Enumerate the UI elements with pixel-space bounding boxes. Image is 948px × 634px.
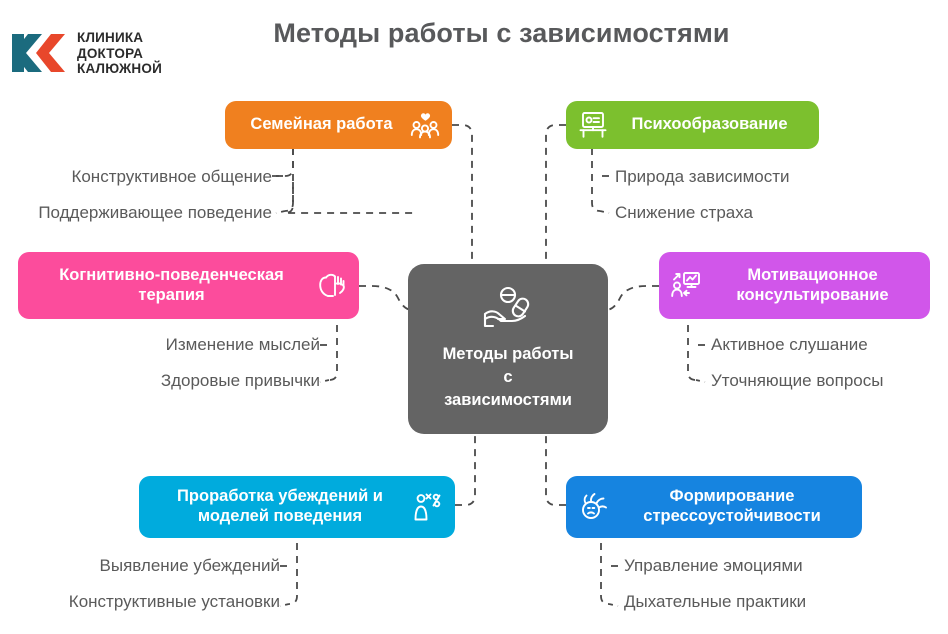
person-percent-icon bbox=[413, 492, 443, 522]
leaf-beliefs-1: Конструктивные установки bbox=[40, 592, 280, 612]
leaf-family-1: Поддерживающее поведение bbox=[20, 203, 272, 223]
branch-node-cbt[interactable]: Когнитивно-поведенческая терапия bbox=[18, 252, 359, 319]
branch-node-beliefs[interactable]: Проработка убеждений и моделей поведения bbox=[139, 476, 455, 538]
hand-holding-pills-icon bbox=[479, 286, 537, 337]
page-title: Методы работы с зависимостями bbox=[0, 18, 948, 49]
leaf-motivational-1: Уточняющие вопросы bbox=[711, 371, 948, 391]
leaf-cbt-1: Здоровые привычки bbox=[60, 371, 320, 391]
stressed-head-icon bbox=[578, 492, 610, 522]
leaf-beliefs-0: Выявление убеждений bbox=[80, 556, 280, 576]
brain-hand-icon bbox=[317, 271, 347, 301]
infographic-canvas: КЛИНИКА ДОКТОРА КАЛЮЖНОЙ Методы работы с… bbox=[0, 0, 948, 634]
leaf-psychoeducation-1: Снижение страха bbox=[615, 203, 895, 223]
branch-title-psychoeducation: Психообразование bbox=[614, 115, 805, 135]
branch-title-beliefs: Проработка убеждений и моделей поведения bbox=[153, 487, 407, 527]
page-title-text: Методы работы с зависимостями bbox=[273, 18, 729, 49]
branch-node-motivational[interactable]: Мотивационное консультирование bbox=[659, 252, 930, 319]
center-node[interactable]: Методы работы с зависимостями bbox=[408, 264, 608, 434]
leaf-cbt-0: Изменение мыслей bbox=[60, 335, 320, 355]
center-node-label: Методы работы с зависимостями bbox=[443, 343, 574, 412]
branch-title-family: Семейная работа bbox=[239, 115, 404, 135]
family-heart-icon bbox=[410, 111, 440, 139]
leaf-psychoeducation-0: Природа зависимости bbox=[615, 167, 895, 187]
person-chart-arrows-icon bbox=[671, 271, 703, 301]
branch-node-psychoeducation[interactable]: Психообразование bbox=[566, 101, 819, 149]
leaf-stress-0: Управление эмоциями bbox=[624, 556, 914, 576]
branch-title-cbt: Когнитивно-поведенческая терапия bbox=[32, 266, 311, 306]
center-label-line-1: Методы работы bbox=[443, 343, 574, 366]
branch-title-stress: Формирование стрессоустойчивости bbox=[616, 487, 848, 527]
branch-title-motivational: Мотивационное консультирование bbox=[709, 266, 916, 306]
center-label-line-2: с bbox=[443, 366, 574, 389]
leaf-stress-1: Дыхательные практики bbox=[624, 592, 914, 612]
logo-line-3: КАЛЮЖНОЙ bbox=[77, 61, 162, 77]
center-label-line-3: зависимостями bbox=[443, 389, 574, 412]
branch-node-family[interactable]: Семейная работа bbox=[225, 101, 452, 149]
leaf-motivational-0: Активное слушание bbox=[711, 335, 948, 355]
leaf-family-0: Конструктивное общение bbox=[50, 167, 272, 187]
presentation-board-icon bbox=[578, 111, 608, 139]
branch-node-stress[interactable]: Формирование стрессоустойчивости bbox=[566, 476, 862, 538]
